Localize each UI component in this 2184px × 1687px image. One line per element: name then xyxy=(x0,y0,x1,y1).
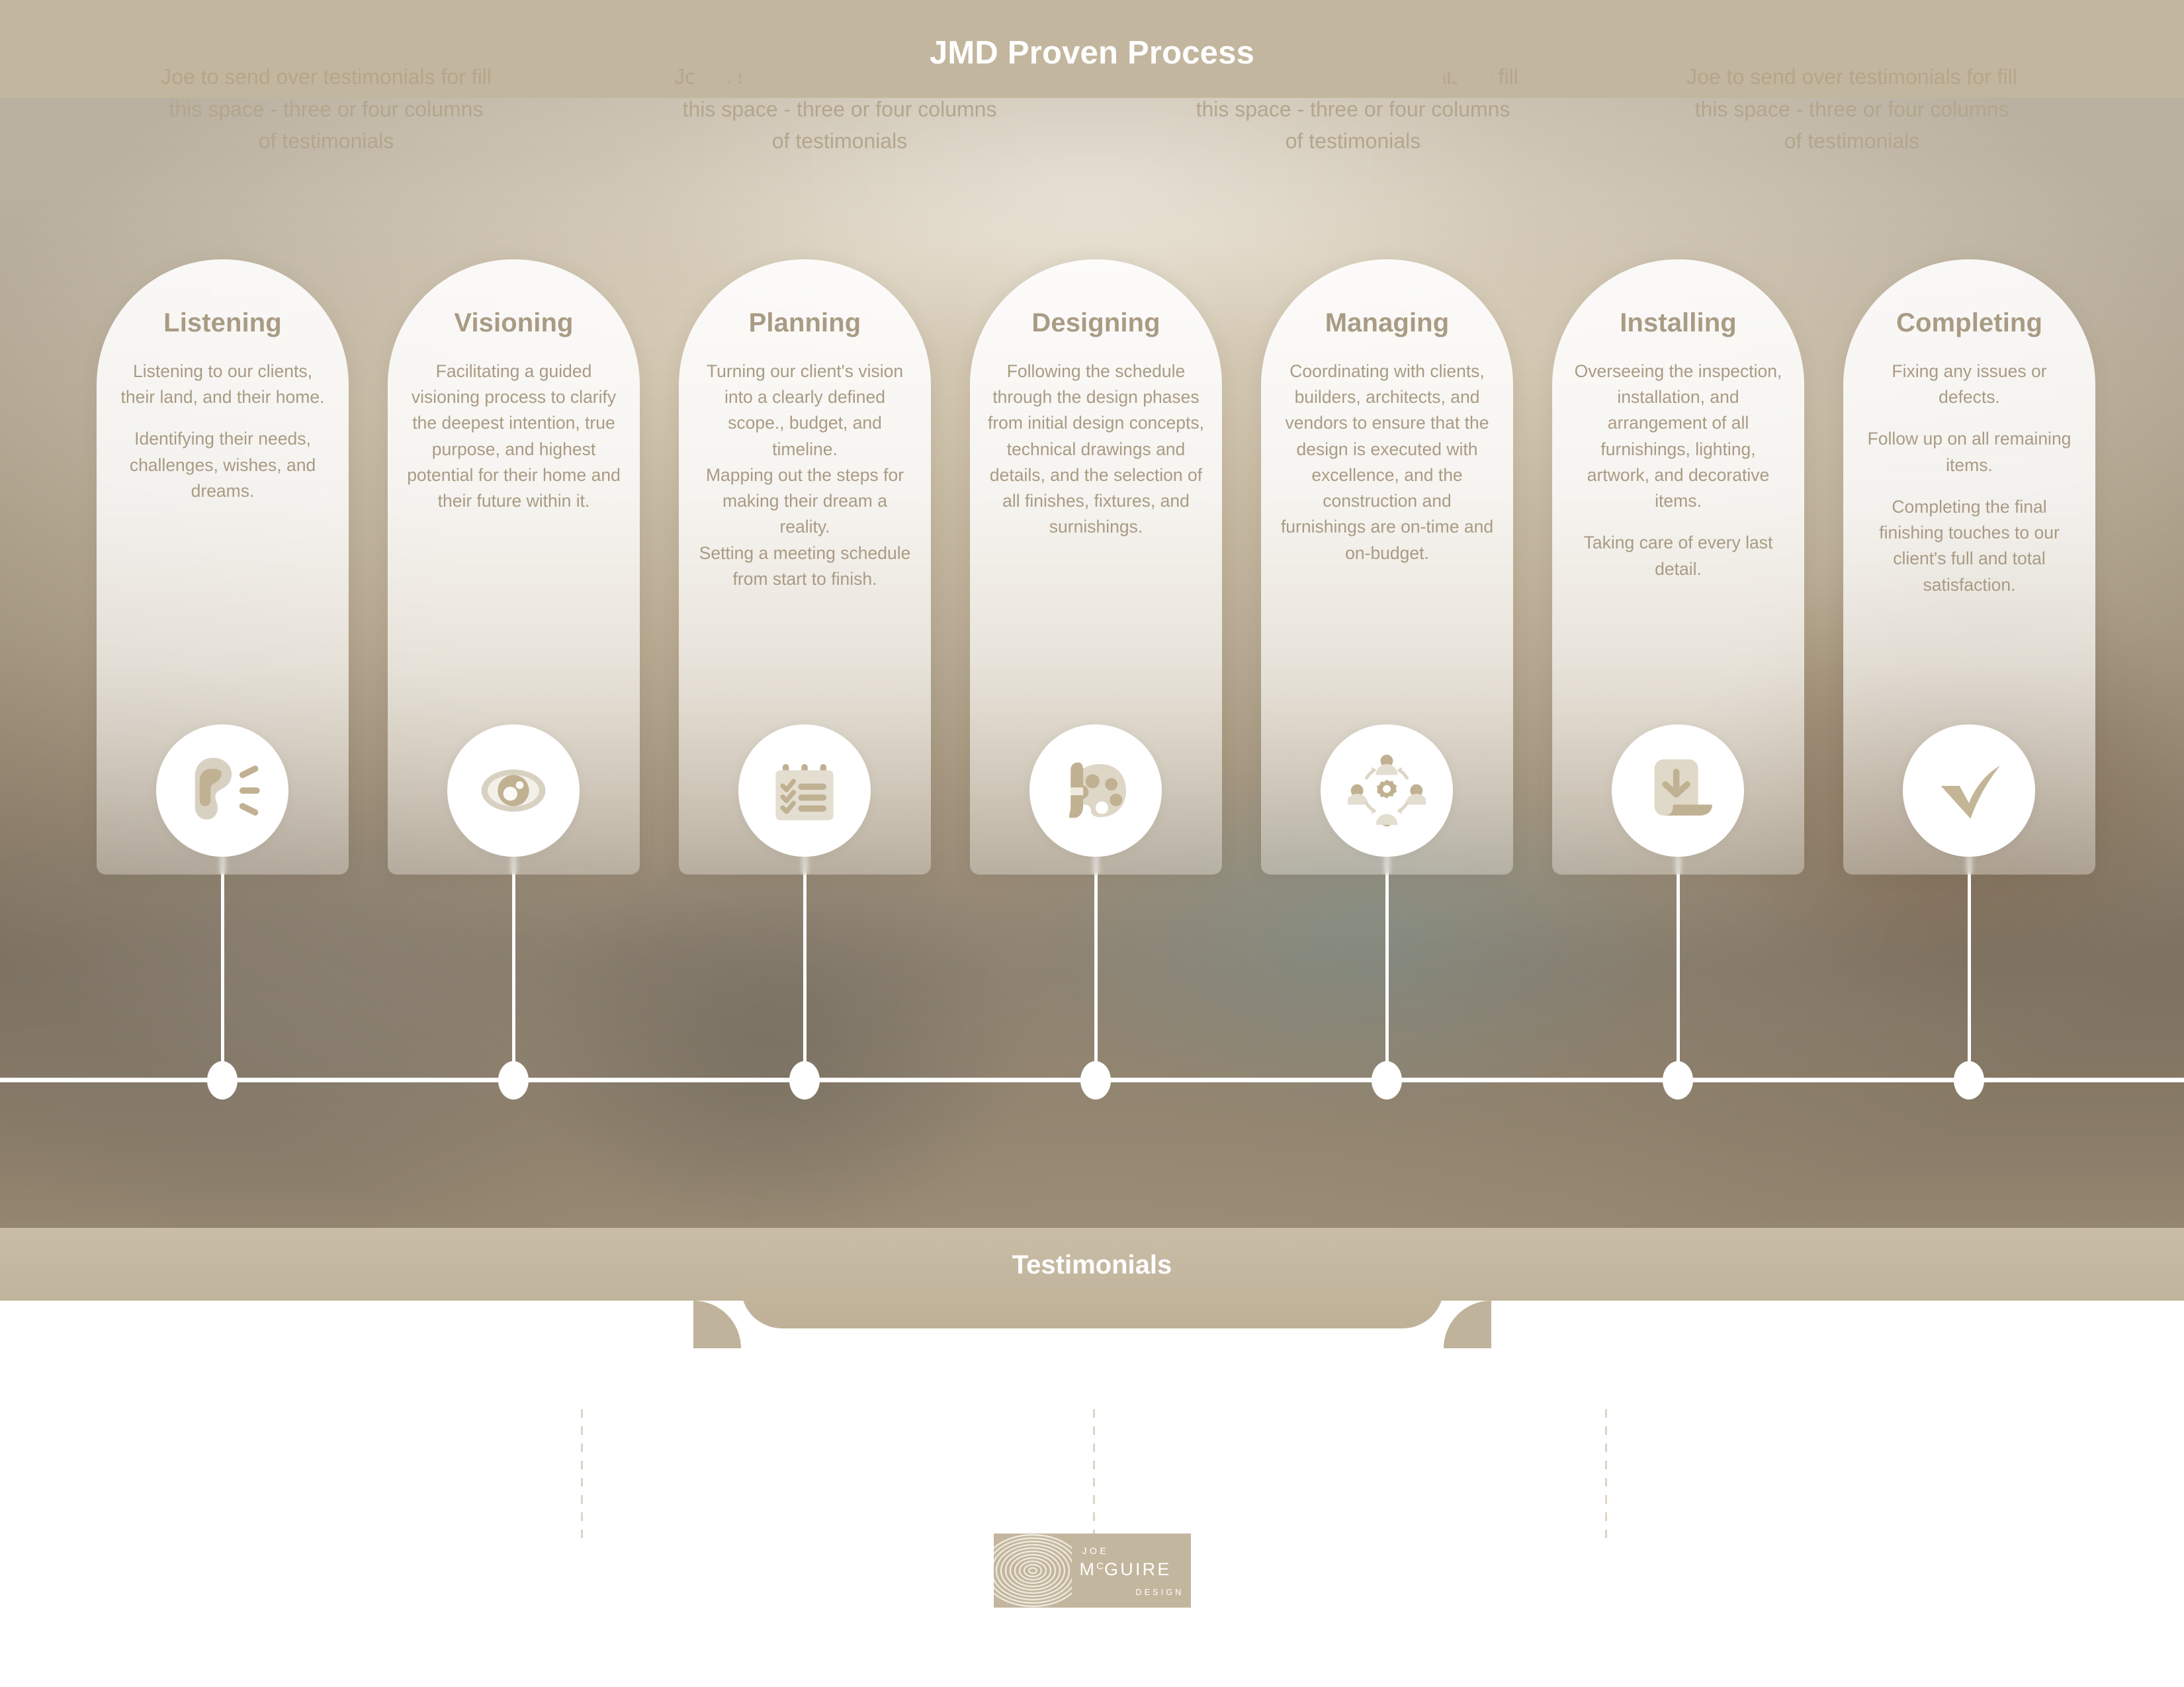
card-body-managing: Coordinating with clients, builders, arc… xyxy=(1278,359,1496,566)
card-body-installing: Overseeing the inspection, installation,… xyxy=(1569,359,1787,582)
timeline-node[interactable] xyxy=(1372,1061,1402,1100)
palette-brush-icon xyxy=(1057,752,1135,830)
testimonial-divider xyxy=(581,1409,583,1541)
card-title-designing: Designing xyxy=(979,308,1213,338)
icon-circle-visioning xyxy=(447,724,580,857)
card-paragraph: Listening to our clients, their land, an… xyxy=(114,359,331,410)
install-download-icon xyxy=(1639,752,1717,830)
card-paragraph: Following the schedule through the desig… xyxy=(987,359,1205,541)
checkmark-icon xyxy=(1930,752,2008,830)
logo-guire: GUIRE xyxy=(1104,1559,1172,1579)
card-body-completing: Fixing any issues or defects. Follow up … xyxy=(1860,359,2078,598)
icon-circle-completing xyxy=(1903,724,2035,857)
card-paragraph: Overseeing the inspection, installation,… xyxy=(1569,359,1787,514)
ear-icon xyxy=(183,752,261,830)
testimonials-area xyxy=(0,1301,2184,1687)
logo-c: C xyxy=(1096,1561,1104,1572)
timeline-node[interactable] xyxy=(789,1061,820,1100)
logo-line-mcguire: MCGUIRE xyxy=(1080,1559,1172,1580)
page-title: JMD Proven Process xyxy=(0,34,2184,71)
card-paragraph: Coordinating with clients, builders, arc… xyxy=(1278,359,1496,566)
card-body-listening: Listening to our clients, their land, an… xyxy=(114,359,331,504)
logo-m: M xyxy=(1080,1559,1097,1579)
team-gear-icon xyxy=(1348,752,1426,830)
card-paragraph: Follow up on all remaining items. xyxy=(1860,426,2078,478)
card-body-planning: Turning our client's vision into a clear… xyxy=(696,359,914,592)
card-paragraph: Facilitating a guided visioning process … xyxy=(405,359,623,514)
icon-circle-managing xyxy=(1321,724,1453,857)
card-body-designing: Following the schedule through the desig… xyxy=(987,359,1205,541)
icon-circle-planning xyxy=(738,724,871,857)
icon-circle-listening xyxy=(156,724,288,857)
testimonial-divider xyxy=(1093,1409,1095,1541)
card-paragraph: Fixing any issues or defects. xyxy=(1860,359,2078,410)
card-paragraph: Completing the final finishing touches t… xyxy=(1860,494,2078,598)
infographic-page: JMD Proven Process Listening Listening t… xyxy=(0,0,2184,1687)
checklist-notepad-icon xyxy=(765,752,844,830)
card-title-managing: Managing xyxy=(1270,308,1504,338)
timeline-node[interactable] xyxy=(498,1061,529,1100)
logo-pattern-icon xyxy=(994,1534,1072,1608)
card-paragraph: Mapping out the steps for making their d… xyxy=(696,462,914,541)
timeline-node[interactable] xyxy=(1080,1061,1111,1100)
card-title-visioning: Visioning xyxy=(397,308,631,338)
icon-circle-designing xyxy=(1029,724,1162,857)
icon-circle-installing xyxy=(1612,724,1744,857)
testimonials-heading: Testimonials xyxy=(0,1250,2184,1280)
card-title-planning: Planning xyxy=(688,308,922,338)
timeline-node[interactable] xyxy=(207,1061,238,1100)
timeline-node[interactable] xyxy=(1954,1061,1984,1100)
card-body-visioning: Facilitating a guided visioning process … xyxy=(405,359,623,514)
brand-logo[interactable]: JOE MCGUIRE DESIGN xyxy=(994,1534,1191,1608)
card-title-listening: Listening xyxy=(106,308,339,338)
card-paragraph: Turning our client's vision into a clear… xyxy=(696,359,914,462)
eye-icon xyxy=(474,752,552,830)
logo-wordmark: JOE MCGUIRE DESIGN xyxy=(1072,1534,1191,1608)
card-paragraph: Setting a meeting schedule from start to… xyxy=(696,541,914,592)
card-paragraph: Identifying their needs, challenges, wis… xyxy=(114,426,331,504)
card-title-installing: Installing xyxy=(1561,308,1795,338)
testimonial-divider xyxy=(1605,1409,1607,1541)
logo-line-joe: JOE xyxy=(1082,1545,1110,1556)
timeline-node[interactable] xyxy=(1663,1061,1693,1100)
logo-line-design: DESIGN xyxy=(1135,1588,1184,1597)
card-title-completing: Completing xyxy=(1853,308,2086,338)
card-paragraph: Taking care of every last detail. xyxy=(1569,530,1787,582)
